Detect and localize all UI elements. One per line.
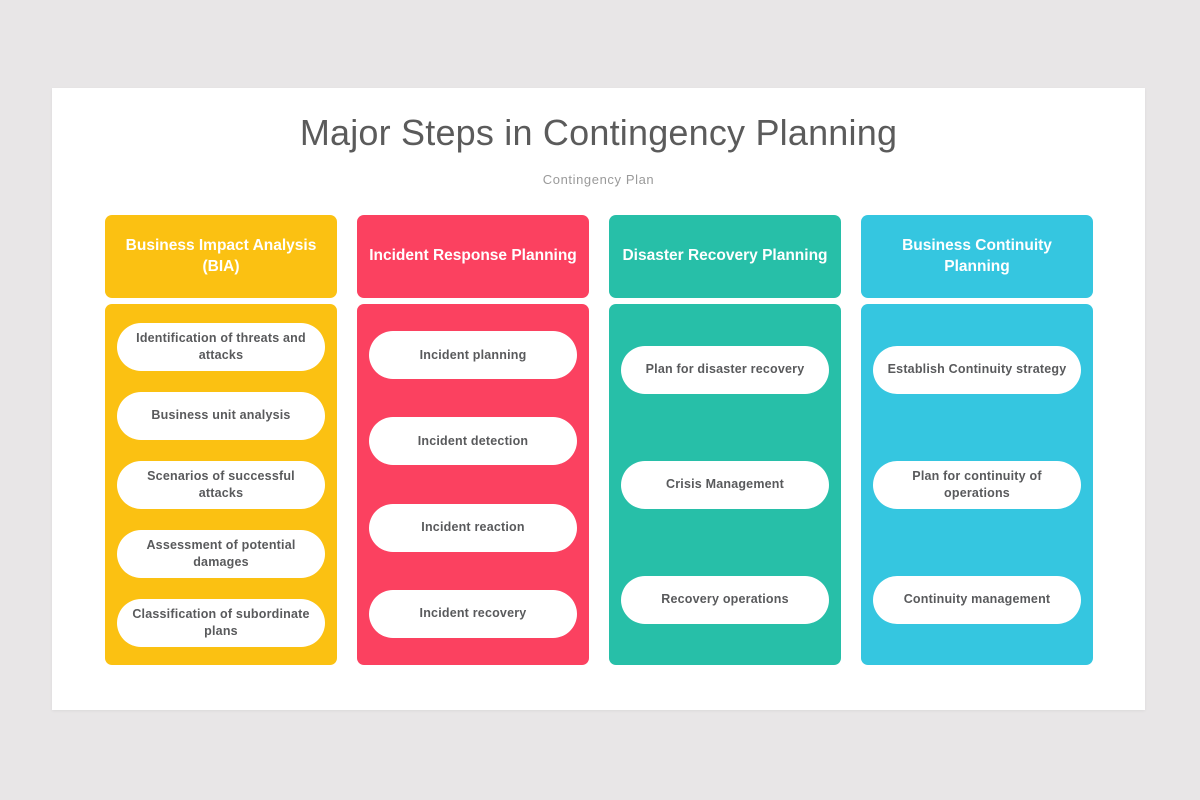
list-item[interactable]: Recovery operations [621, 576, 829, 624]
column-1: Business Impact Analysis (BIA)Identifica… [105, 215, 337, 665]
list-item[interactable]: Classification of subordinate plans [117, 599, 325, 647]
page-subtitle: Contingency Plan [52, 172, 1145, 187]
column-header-2[interactable]: Incident Response Planning [357, 215, 589, 298]
list-item[interactable]: Incident recovery [369, 590, 577, 638]
column-header-4[interactable]: Business Continuity Planning [861, 215, 1093, 298]
column-body-1: Identification of threats and attacksBus… [105, 304, 337, 665]
column-header-1[interactable]: Business Impact Analysis (BIA) [105, 215, 337, 298]
column-2: Incident Response PlanningIncident plann… [357, 215, 589, 665]
list-item[interactable]: Crisis Management [621, 461, 829, 509]
page-title: Major Steps in Contingency Planning [52, 112, 1145, 154]
list-item[interactable]: Incident planning [369, 331, 577, 379]
column-header-3[interactable]: Disaster Recovery Planning [609, 215, 841, 298]
list-item[interactable]: Assessment of potential damages [117, 530, 325, 578]
list-item[interactable]: Plan for continuity of operations [873, 461, 1081, 509]
column-4: Business Continuity PlanningEstablish Co… [861, 215, 1093, 665]
list-item[interactable]: Incident detection [369, 417, 577, 465]
list-item[interactable]: Identification of threats and attacks [117, 323, 325, 371]
column-body-4: Establish Continuity strategyPlan for co… [861, 304, 1093, 665]
column-3: Disaster Recovery PlanningPlan for disas… [609, 215, 841, 665]
column-body-2: Incident planningIncident detectionIncid… [357, 304, 589, 665]
column-body-3: Plan for disaster recoveryCrisis Managem… [609, 304, 841, 665]
columns-container: Business Impact Analysis (BIA)Identifica… [105, 215, 1093, 665]
list-item[interactable]: Incident reaction [369, 504, 577, 552]
list-item[interactable]: Scenarios of successful attacks [117, 461, 325, 509]
list-item[interactable]: Establish Continuity strategy [873, 346, 1081, 394]
slide-canvas: Major Steps in Contingency Planning Cont… [52, 88, 1145, 710]
list-item[interactable]: Continuity management [873, 576, 1081, 624]
list-item[interactable]: Business unit analysis [117, 392, 325, 440]
list-item[interactable]: Plan for disaster recovery [621, 346, 829, 394]
